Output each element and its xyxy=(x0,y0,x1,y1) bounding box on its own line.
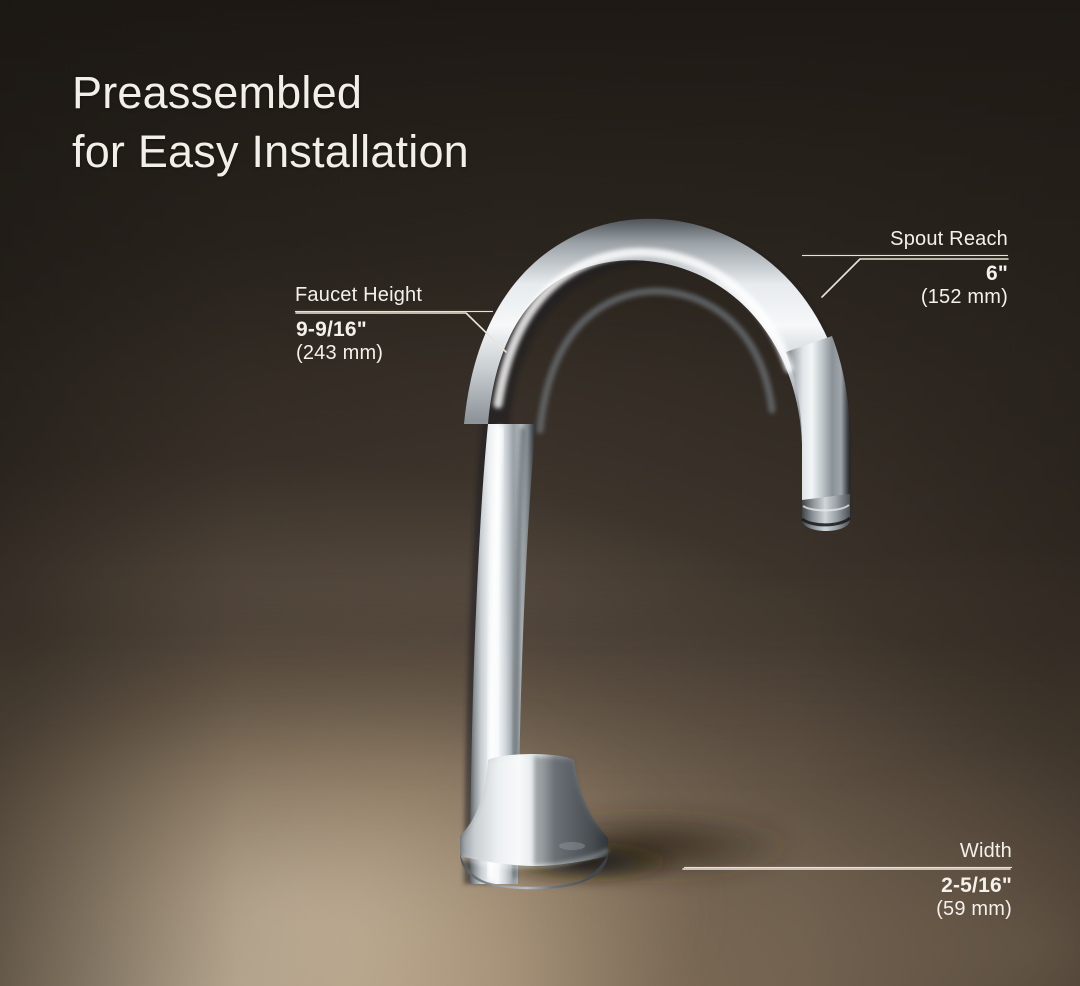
callout-rule xyxy=(684,867,1012,868)
callout-imperial-value: 9-9/16" xyxy=(296,318,493,342)
callout-spout-reach: Spout Reach 6" (152 mm) xyxy=(802,228,1008,309)
callout-metric-value: (243 mm) xyxy=(296,342,493,365)
page-title: Preassembled for Easy Installation xyxy=(72,64,469,181)
product-image-canvas: Preassembled for Easy Installation Fauce… xyxy=(0,0,1080,986)
callout-title: Width xyxy=(684,840,1012,863)
callout-metric-value: (152 mm) xyxy=(802,286,1008,309)
callout-imperial-value: 2-5/16" xyxy=(684,874,1012,898)
callout-rule xyxy=(802,255,1008,256)
callout-metric-value: (59 mm) xyxy=(684,898,1012,921)
callout-title: Faucet Height xyxy=(295,284,493,307)
callout-imperial-value: 6" xyxy=(802,262,1008,286)
callout-faucet-height: Faucet Height 9-9/16" (243 mm) xyxy=(295,284,493,365)
callout-title: Spout Reach xyxy=(802,228,1008,251)
callout-rule xyxy=(295,311,493,312)
callout-width: Width 2-5/16" (59 mm) xyxy=(684,840,1012,921)
